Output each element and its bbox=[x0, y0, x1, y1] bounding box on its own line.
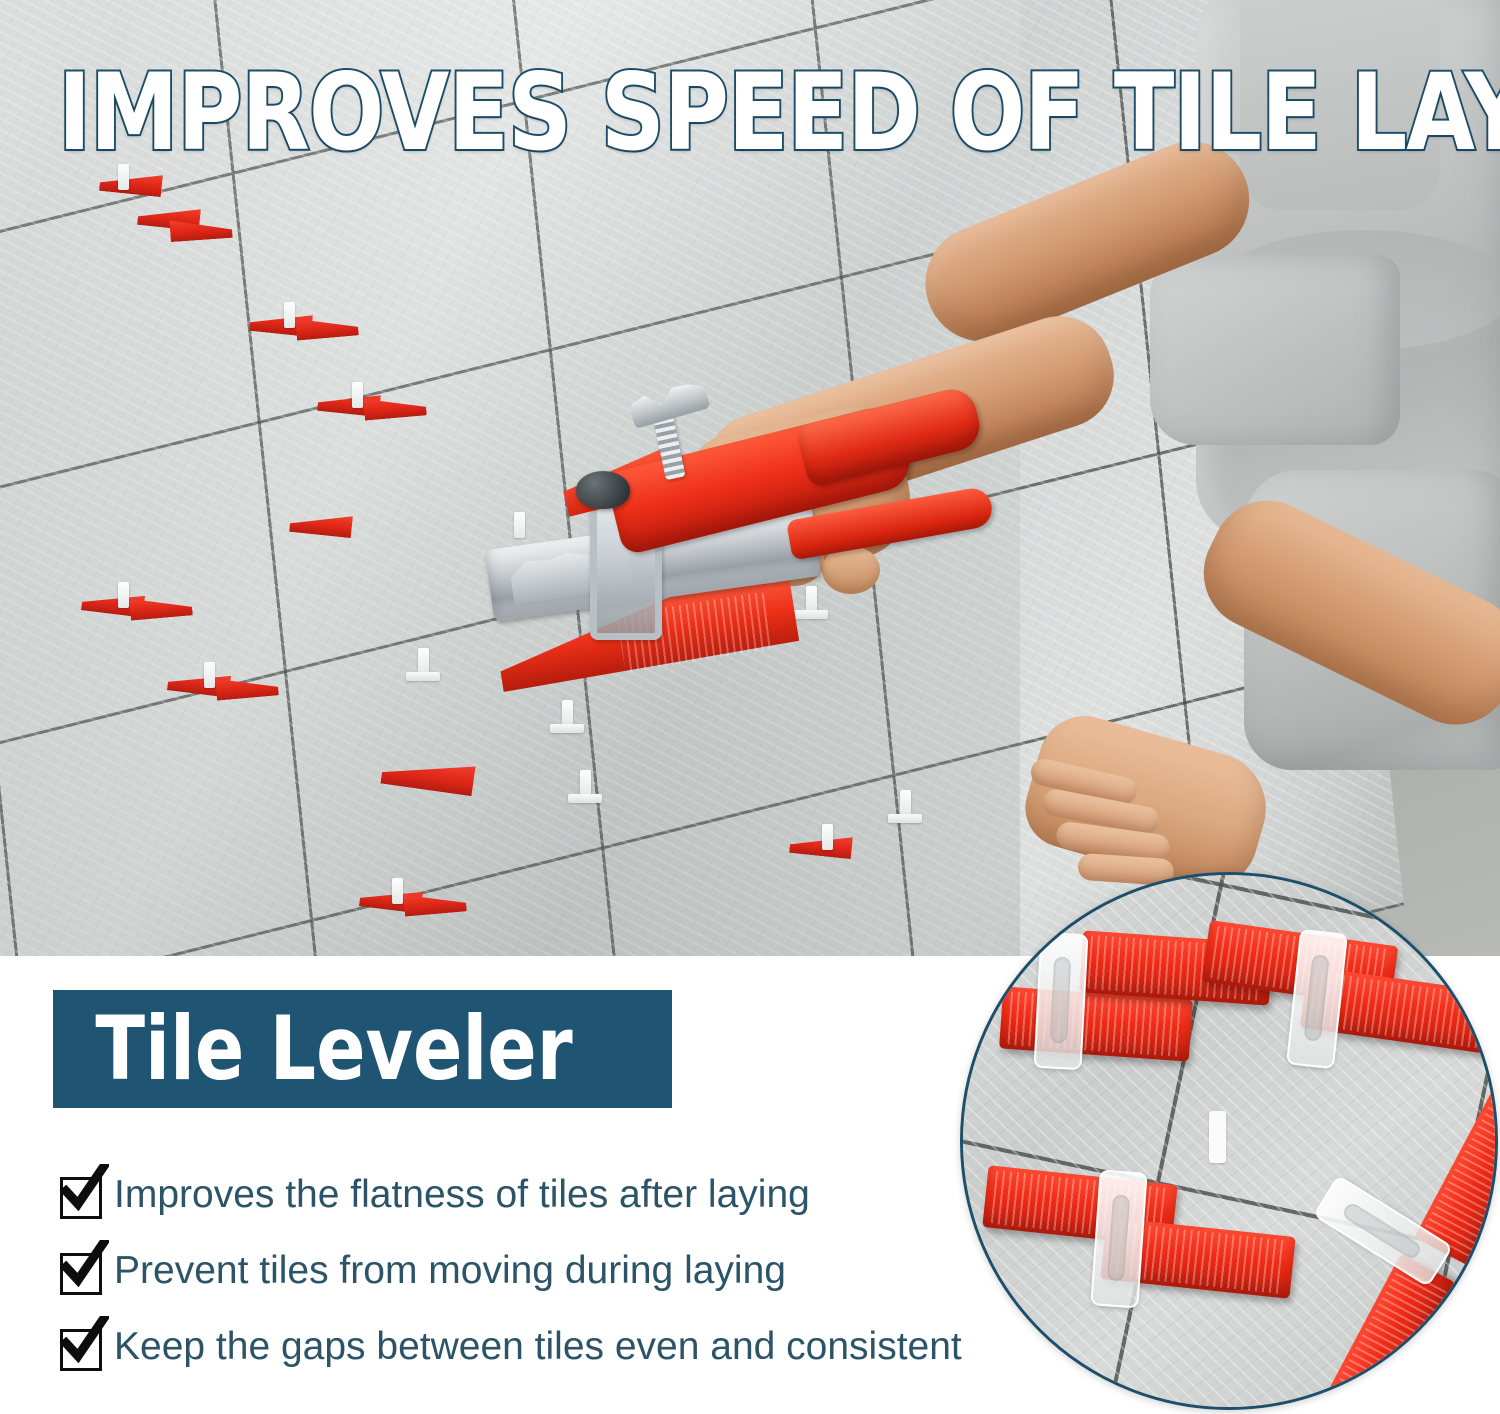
tool-black-knob bbox=[576, 471, 630, 509]
inset-clear-clip bbox=[1033, 932, 1088, 1070]
white-clip bbox=[822, 824, 833, 850]
white-clip-base bbox=[568, 794, 602, 803]
list-item: Keep the gaps between tiles even and con… bbox=[58, 1315, 1018, 1377]
feature-text: Prevent tiles from moving during laying bbox=[114, 1251, 786, 1290]
page-title: IMPROVES SPEED OF TILE LAYING bbox=[58, 60, 1360, 166]
person-sleeve bbox=[1150, 255, 1400, 445]
white-clip bbox=[352, 382, 363, 408]
white-clip bbox=[900, 790, 911, 816]
white-clip bbox=[418, 648, 429, 674]
white-clip bbox=[118, 582, 129, 608]
product-name-banner: Tile Leveler bbox=[53, 990, 672, 1108]
white-clip bbox=[580, 770, 591, 796]
checkbox-checked-icon bbox=[58, 1324, 102, 1368]
feature-text: Improves the flatness of tiles after lay… bbox=[114, 1175, 810, 1214]
inset-center-clip bbox=[1209, 1111, 1226, 1163]
feature-list: Improves the flatness of tiles after lay… bbox=[58, 1163, 1018, 1391]
product-closeup-inset bbox=[960, 872, 1498, 1410]
feature-text: Keep the gaps between tiles even and con… bbox=[114, 1327, 962, 1366]
white-clip-base bbox=[888, 814, 922, 823]
white-clip-base bbox=[550, 724, 584, 733]
checkbox-checked-icon bbox=[58, 1248, 102, 1292]
hero-photo: IMPROVES SPEED OF TILE LAYING bbox=[0, 0, 1500, 956]
list-item: Improves the flatness of tiles after lay… bbox=[58, 1163, 1018, 1225]
tile-leveling-plier-tool bbox=[470, 395, 990, 715]
white-clip-base bbox=[406, 672, 440, 681]
list-item: Prevent tiles from moving during laying bbox=[58, 1239, 1018, 1301]
product-name: Tile Leveler bbox=[53, 1005, 573, 1093]
white-clip bbox=[204, 662, 215, 688]
white-clip bbox=[392, 878, 403, 904]
white-clip bbox=[284, 302, 295, 328]
inset-clear-clip bbox=[1090, 1169, 1147, 1308]
checkbox-checked-icon bbox=[58, 1172, 102, 1216]
